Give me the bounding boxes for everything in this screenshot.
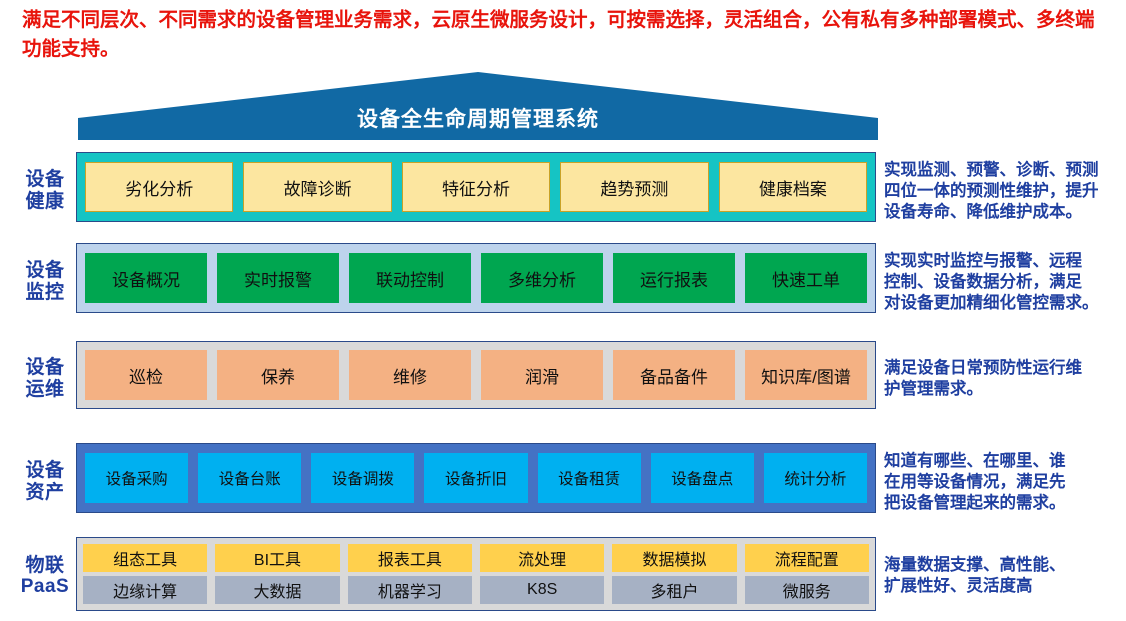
module-cell[interactable]: 劣化分析 <box>85 162 233 212</box>
row-equipment-assets: 设备 资产 设备采购 设备台账 设备调拨 设备折旧 设备租赁 设备盘点 统计分析… <box>14 443 1114 521</box>
module-cell[interactable]: 保养 <box>217 350 339 400</box>
row-label-line2: 监控 <box>25 282 64 304</box>
desc-line: 实现监测、预警、诊断、预测 <box>884 160 1114 181</box>
module-cell[interactable]: 多租户 <box>612 576 736 604</box>
module-cell[interactable]: 健康档案 <box>719 162 867 212</box>
band-equipment-health: 劣化分析 故障诊断 特征分析 趋势预测 健康档案 <box>76 152 876 222</box>
module-cell[interactable]: 数据模拟 <box>612 544 736 572</box>
row-description-equipment-om: 满足设备日常预防性运行维 护管理需求。 <box>876 341 1114 417</box>
module-cell[interactable]: BI工具 <box>215 544 339 572</box>
module-cell[interactable]: 快速工单 <box>745 253 867 303</box>
module-cell[interactable]: 设备折旧 <box>424 453 527 503</box>
module-cell[interactable]: 统计分析 <box>764 453 867 503</box>
system-banner: 设备全生命周期管理系统 <box>78 72 878 140</box>
row-label-line1: 物联 <box>25 555 64 576</box>
module-cell[interactable]: 巡检 <box>85 350 207 400</box>
desc-line: 四位一体的预测性维护，提升 <box>884 181 1114 202</box>
module-cell[interactable]: 设备台账 <box>198 453 301 503</box>
row-label-line2: 健康 <box>25 191 64 213</box>
row-label-iot-paas: 物联 PaaS <box>14 537 76 615</box>
module-cell[interactable]: 流程配置 <box>745 544 869 572</box>
desc-line: 知道有哪些、在哪里、谁 <box>884 451 1114 472</box>
desc-line: 海量数据支撑、高性能、 <box>884 555 1114 576</box>
module-cell[interactable]: 润滑 <box>481 350 603 400</box>
desc-line: 在用等设备情况，满足先 <box>884 472 1114 493</box>
paas-tools-line: 组态工具 BI工具 报表工具 流处理 数据模拟 流程配置 <box>83 544 869 572</box>
row-equipment-health: 设备 健康 劣化分析 故障诊断 特征分析 趋势预测 健康档案 实现监测、预警、诊… <box>14 152 1114 230</box>
band-equipment-monitoring: 设备概况 实时报警 联动控制 多维分析 运行报表 快速工单 <box>76 243 876 313</box>
desc-line: 满足设备日常预防性运行维 <box>884 358 1114 379</box>
row-description-equipment-assets: 知道有哪些、在哪里、谁 在用等设备情况，满足先 把设备管理起来的需求。 <box>876 443 1114 521</box>
module-cell[interactable]: 大数据 <box>215 576 339 604</box>
desc-line: 设备寿命、降低维护成本。 <box>884 202 1114 223</box>
desc-line: 对设备更加精细化管控需求。 <box>884 293 1114 314</box>
row-label-line1: 设备 <box>25 169 64 191</box>
row-iot-paas: 物联 PaaS 组态工具 BI工具 报表工具 流处理 数据模拟 流程配置 边缘计… <box>14 537 1114 615</box>
module-cell[interactable]: K8S <box>480 576 604 604</box>
module-cell[interactable]: 运行报表 <box>613 253 735 303</box>
module-cell[interactable]: 设备调拨 <box>311 453 414 503</box>
desc-line: 实现实时监控与报警、远程 <box>884 251 1114 272</box>
module-cell[interactable]: 流处理 <box>480 544 604 572</box>
desc-line: 护管理需求。 <box>884 379 1114 400</box>
page-headline: 满足不同层次、不同需求的设备管理业务需求，云原生微服务设计，可按需选择，灵活组合… <box>22 6 1112 64</box>
desc-line: 扩展性好、灵活度高 <box>884 576 1114 597</box>
module-cell[interactable]: 报表工具 <box>348 544 472 572</box>
module-cell[interactable]: 设备租赁 <box>538 453 641 503</box>
module-cell[interactable]: 设备盘点 <box>651 453 754 503</box>
row-label-equipment-assets: 设备 资产 <box>14 443 76 521</box>
row-description-iot-paas: 海量数据支撑、高性能、 扩展性好、灵活度高 <box>876 537 1114 615</box>
band-equipment-om: 巡检 保养 维修 润滑 备品备件 知识库/图谱 <box>76 341 876 409</box>
module-cell[interactable]: 设备概况 <box>85 253 207 303</box>
desc-line: 控制、设备数据分析，满足 <box>884 272 1114 293</box>
module-cell[interactable]: 联动控制 <box>349 253 471 303</box>
desc-line: 把设备管理起来的需求。 <box>884 493 1114 514</box>
banner-title: 设备全生命周期管理系统 <box>78 72 878 140</box>
row-label-line2: PaaS <box>21 576 69 597</box>
row-equipment-monitoring: 设备 监控 设备概况 实时报警 联动控制 多维分析 运行报表 快速工单 实现实时… <box>14 243 1114 321</box>
module-cell[interactable]: 组态工具 <box>83 544 207 572</box>
module-cell[interactable]: 故障诊断 <box>243 162 391 212</box>
module-cell[interactable]: 知识库/图谱 <box>745 350 867 400</box>
module-cell[interactable]: 边缘计算 <box>83 576 207 604</box>
module-cell[interactable]: 备品备件 <box>613 350 735 400</box>
row-label-line2: 资产 <box>25 482 64 504</box>
row-label-line1: 设备 <box>25 260 64 282</box>
module-cell[interactable]: 特征分析 <box>402 162 550 212</box>
row-label-equipment-om: 设备 运维 <box>14 341 76 417</box>
paas-infra-line: 边缘计算 大数据 机器学习 K8S 多租户 微服务 <box>83 576 869 604</box>
module-cell[interactable]: 微服务 <box>745 576 869 604</box>
row-label-line1: 设备 <box>25 357 64 379</box>
row-label-line1: 设备 <box>25 460 64 482</box>
module-cell[interactable]: 机器学习 <box>348 576 472 604</box>
row-label-equipment-monitoring: 设备 监控 <box>14 243 76 321</box>
band-iot-paas: 组态工具 BI工具 报表工具 流处理 数据模拟 流程配置 边缘计算 大数据 机器… <box>76 537 876 611</box>
module-cell[interactable]: 维修 <box>349 350 471 400</box>
row-equipment-om: 设备 运维 巡检 保养 维修 润滑 备品备件 知识库/图谱 满足设备日常预防性运… <box>14 341 1114 417</box>
row-label-equipment-health: 设备 健康 <box>14 152 76 230</box>
row-description-equipment-health: 实现监测、预警、诊断、预测 四位一体的预测性维护，提升 设备寿命、降低维护成本。 <box>876 152 1114 230</box>
module-cell[interactable]: 趋势预测 <box>560 162 708 212</box>
band-equipment-assets: 设备采购 设备台账 设备调拨 设备折旧 设备租赁 设备盘点 统计分析 <box>76 443 876 513</box>
row-label-line2: 运维 <box>25 379 64 401</box>
module-cell[interactable]: 设备采购 <box>85 453 188 503</box>
module-cell[interactable]: 实时报警 <box>217 253 339 303</box>
row-description-equipment-monitoring: 实现实时监控与报警、远程 控制、设备数据分析，满足 对设备更加精细化管控需求。 <box>876 243 1114 321</box>
module-cell[interactable]: 多维分析 <box>481 253 603 303</box>
